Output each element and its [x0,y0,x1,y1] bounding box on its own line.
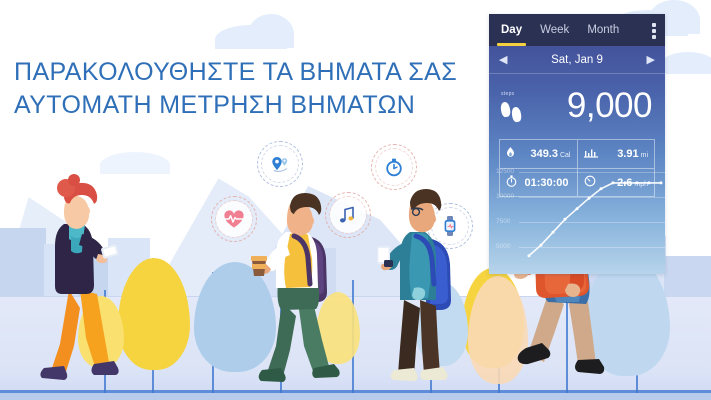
kebab-dot [652,35,656,39]
chart-point [564,218,567,221]
page-title: ΠΑΡΑΚΟΛΟΥΘΗΣΤΕ ΤΑ ΒΗΜΑΤΑ ΣΑΣ ΑΥΤΟΜΑΤΗ ΜΕ… [14,56,464,122]
chart-point [540,244,543,247]
steps-value: 9,000 [534,88,652,123]
headline-line-1: ΠΑΡΑΚΟΛΟΥΘΗΣΤΕ ΤΑ ΒΗΜΑΤΑ ΣΑΣ [14,58,457,86]
illustration-canvas: ΠΑΡΑΚΟΛΟΥΘΗΣΤΕ ΤΑ ΒΗΜΑΤΑ ΣΑΣ ΑΥΤΟΜΑΤΗ ΜΕ… [0,0,711,400]
app-header: Day Week Month [489,14,665,46]
app-body: ◀ Sat, Jan 9 ▶ steps 9,000 [489,46,665,274]
tab-day[interactable]: Day [499,21,524,39]
tab-month[interactable]: Month [585,21,621,39]
chart-point [648,181,651,184]
chart-point [552,231,555,234]
distance-icon [584,148,599,161]
man-walking-with-coffee [248,178,354,394]
step-tracker-app-panel: Day Week Month ◀ Sat, Jan 9 ▶ steps [489,14,665,274]
chart-point [528,254,531,257]
ground-shadow-strip [0,393,711,400]
chart-point [660,181,663,184]
cloud-shape [660,52,711,74]
next-day-button[interactable]: ▶ [647,53,655,66]
man-standing-with-phone [372,176,468,394]
cloud-shape [248,14,294,48]
steps-caption: steps [501,91,514,97]
chart-point [612,181,615,184]
distance-value: 3.91mi [599,148,649,160]
date-navigator: ◀ Sat, Jan 9 ▶ [489,46,665,74]
chart-line [489,162,665,274]
footprint-right [511,106,522,122]
footprint-left [500,101,511,117]
kebab-dot [652,23,656,27]
chart-point [600,187,603,190]
building-shape [664,256,711,300]
chart-point [636,181,639,184]
flame-icon [506,147,521,162]
current-date-label: Sat, Jan 9 [551,54,603,66]
prev-day-button[interactable]: ◀ [499,53,507,66]
kebab-dot [652,29,656,33]
chart-point [588,197,591,200]
kebab-menu-icon[interactable] [652,23,656,41]
chart-point [576,207,579,210]
calories-value: 349.3Cal [521,148,571,160]
tree-yellow [118,258,190,370]
chart-point [624,181,627,184]
woman-walking-with-phone [24,168,124,394]
steps-summary: steps 9,000 [489,74,665,136]
steps-history-chart: 12500 10000 7500 5000 [489,162,665,274]
tab-week[interactable]: Week [538,21,571,39]
headline-line-2: ΑΥΤΟΜΑΤΗ ΜΕΤΡΗΣΗ ΒΗΜΑΤΩΝ [14,89,464,122]
